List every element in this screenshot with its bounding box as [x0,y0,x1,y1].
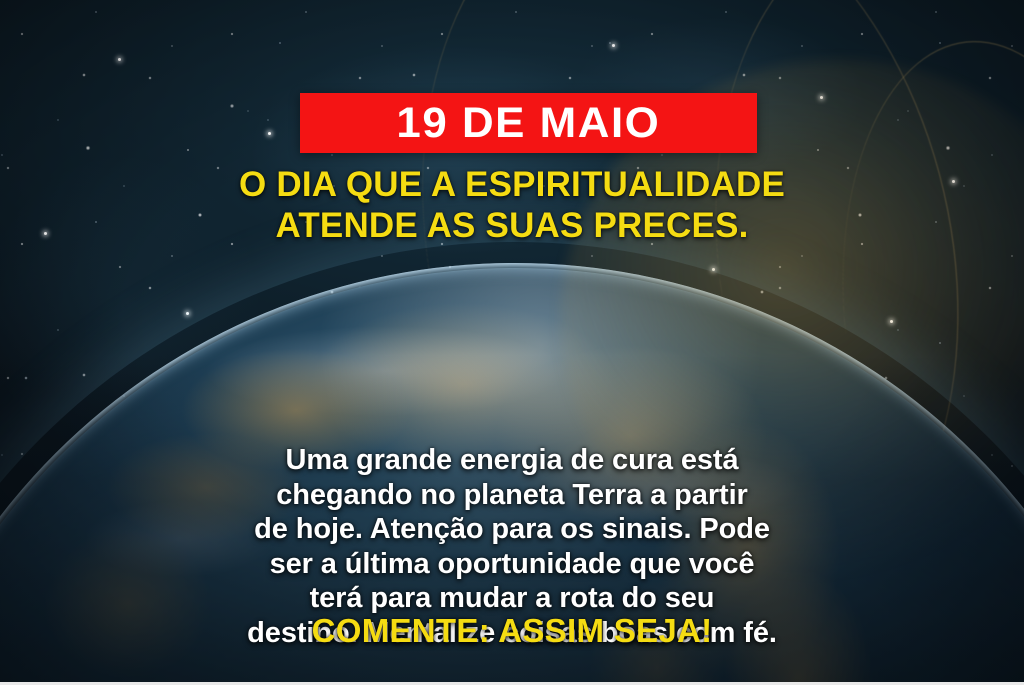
headline-line-1: O DIA QUE A ESPIRITUALIDADE [40,164,984,205]
poster-content: 19 DE MAIO O DIA QUE A ESPIRITUALIDADE A… [0,0,1024,685]
body-line-2: chegando no planeta Terra a partir [26,478,998,513]
headline-line-2: ATENDE AS SUAS PRECES. [40,205,984,246]
body-line-3: de hoje. Atenção para os sinais. Pode [26,512,998,547]
date-banner-label: 19 DE MAIO [397,102,661,145]
poster-canvas: 19 DE MAIO O DIA QUE A ESPIRITUALIDADE A… [0,0,1024,685]
body-line-4: ser a última oportunidade que você [26,547,998,582]
body-line-1: Uma grande energia de cura está [26,443,998,478]
date-banner: 19 DE MAIO [300,93,757,153]
headline: O DIA QUE A ESPIRITUALIDADE ATENDE AS SU… [0,164,1024,247]
body-line-5: terá para mudar a rota do seu [26,581,998,616]
call-to-action-text: COMENTE: ASSIM SEJA! [0,613,1024,649]
